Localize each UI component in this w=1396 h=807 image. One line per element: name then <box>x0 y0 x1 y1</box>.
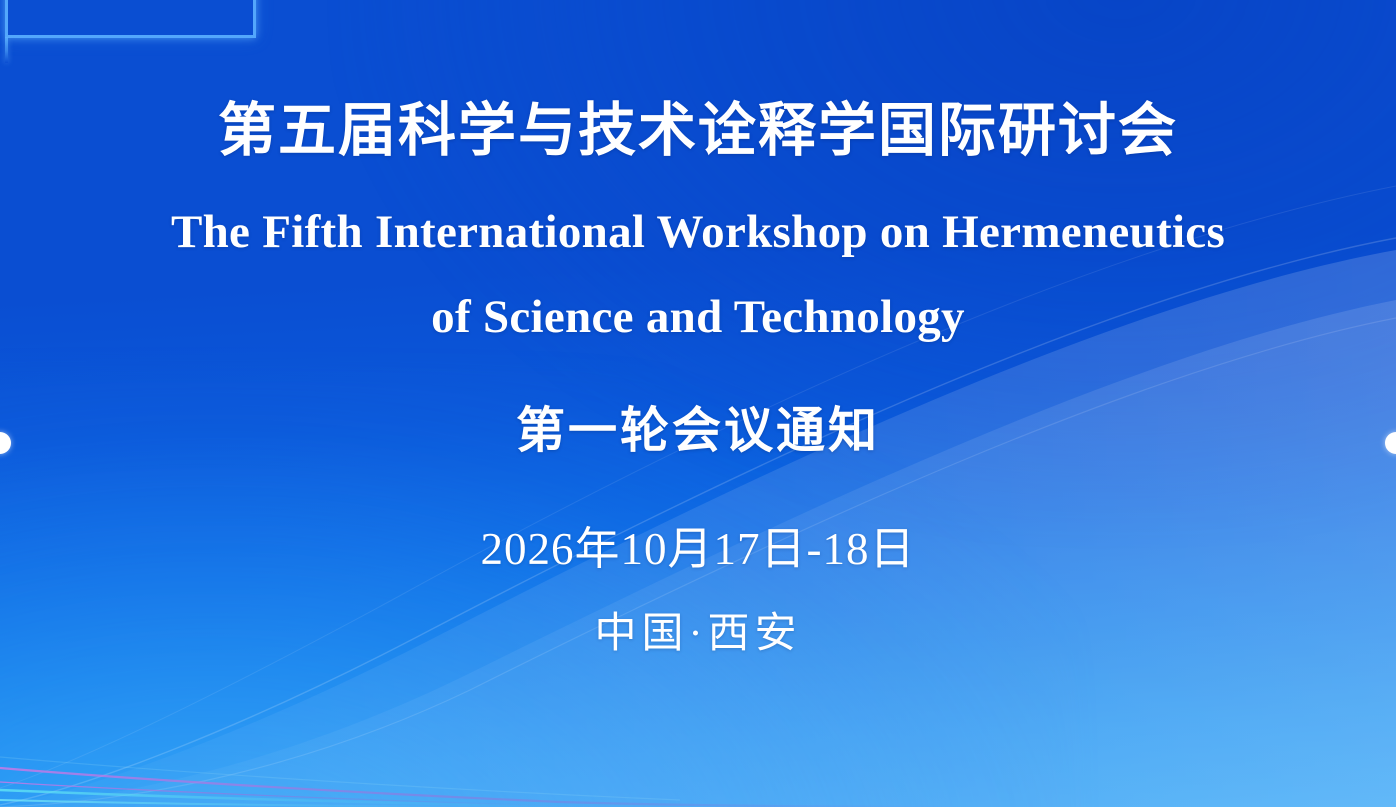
conference-location: 中国·西安 <box>595 599 802 660</box>
conference-title-english-line2: of Science and Technology <box>171 283 1225 353</box>
conference-title-english-line1: The Fifth International Workshop on Herm… <box>171 198 1225 268</box>
conference-date: 2026年10月17日-18日 <box>481 512 916 577</box>
notice-subtitle-chinese: 第一轮会议通知 <box>516 391 880 462</box>
poster-content: 第五届科学与技术诠释学国际研讨会 The Fifth International… <box>0 0 1396 807</box>
conference-title-english: The Fifth International Workshop on Herm… <box>171 198 1225 353</box>
conference-title-chinese: 第五届科学与技术诠释学国际研讨会 <box>218 101 1178 162</box>
conference-poster-slide: 第五届科学与技术诠释学国际研讨会 The Fifth International… <box>0 0 1396 807</box>
